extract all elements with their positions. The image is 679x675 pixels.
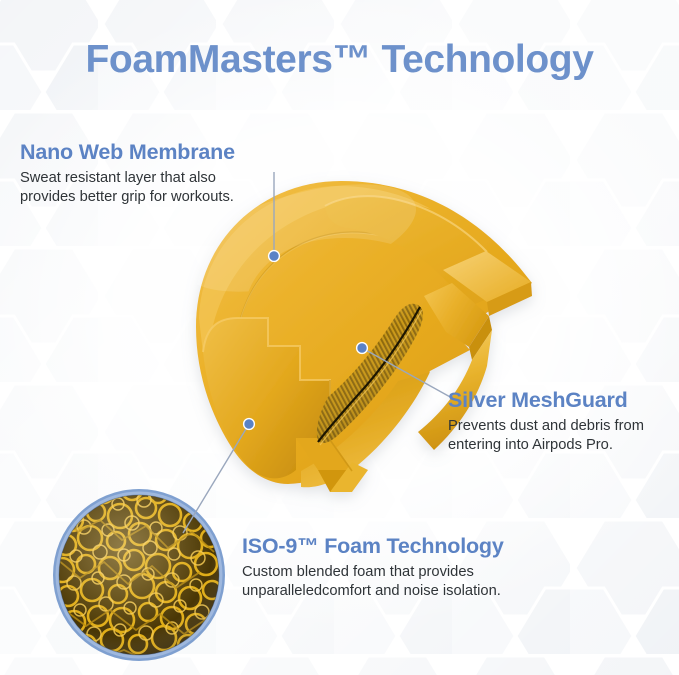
leader-line-foam [183,424,249,533]
callout-nano-body: Sweat resistant layer that also provides… [20,169,235,208]
callout-nano-heading: Nano Web Membrane [20,140,235,165]
callout-mesh-body-line1: Prevents dust and debris from [448,417,644,436]
callout-foam-body-line2: unparalleledcomfort and noise isolation. [242,582,504,601]
page-title: FoamMasters™ Technology [0,38,679,82]
callout-silver-meshguard: Silver MeshGuard Prevents dust and debri… [448,388,644,456]
callout-nano-web-membrane: Nano Web Membrane Sweat resistant layer … [20,140,235,208]
callout-mesh-body-line2: entering into Airpods Pro. [448,436,644,455]
callout-mesh-heading: Silver MeshGuard [448,388,644,413]
leader-dot-mesh [357,343,368,354]
callout-foam-heading: ISO-9™ Foam Technology [242,534,504,559]
callout-foam-body: Custom blended foam that provides unpara… [242,563,504,602]
callout-nano-body-line2: provides better grip for workouts. [20,188,235,207]
callout-nano-body-line1: Sweat resistant layer that also [20,169,235,188]
leader-dot-foam [244,419,255,430]
infographic-canvas: FoamMasters™ Technology Nano Web Membran… [0,0,679,675]
callout-foam-body-line1: Custom blended foam that provides [242,563,504,582]
leader-dot-nano [269,251,280,262]
callout-iso9-foam-technology: ISO-9™ Foam Technology Custom blended fo… [242,534,504,602]
callout-mesh-body: Prevents dust and debris from entering i… [448,417,644,456]
